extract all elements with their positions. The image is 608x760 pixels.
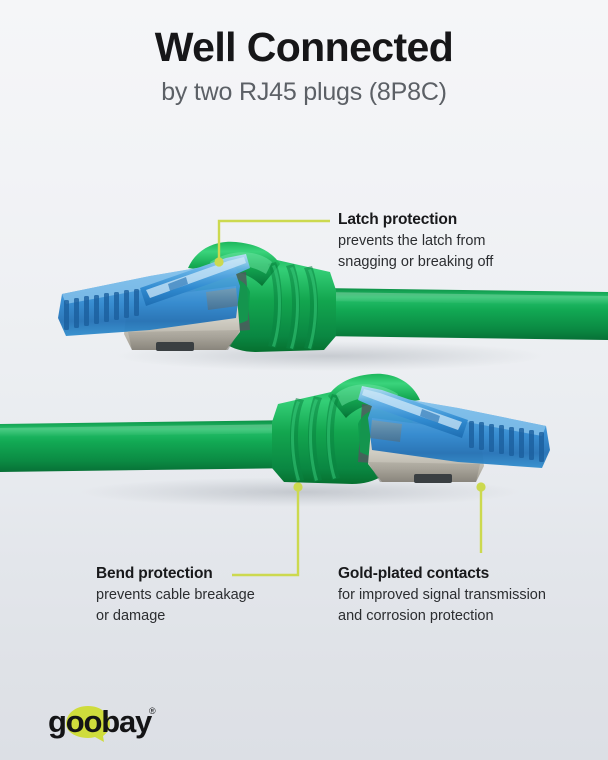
callout-latch-line-2: snagging or breaking off [338,252,493,273]
callout-latch-line-1: prevents the latch from [338,231,493,252]
page-title: Well Connected [0,0,608,69]
callout-bend-line-2: or damage [96,606,255,627]
header: Well Connected by two RJ45 plugs (8P8C) [0,0,608,107]
rj45-connector-top [58,242,608,371]
callout-gold-line-1: for improved signal transmission [338,585,546,606]
callout-bend-protection: Bend protection prevents cable breakage … [96,565,255,626]
callout-gold-heading: Gold-plated contacts [338,565,546,583]
product-photo-rj45-cable [0,0,608,760]
page-subtitle: by two RJ45 plugs (8P8C) [0,69,608,107]
callout-gold-line-2: and corrosion protection [338,606,546,627]
infographic-page: Well Connected by two RJ45 plugs (8P8C) … [0,0,608,760]
rj45-connector-bottom [0,374,550,507]
callout-bend-line-1: prevents cable breakage [96,585,255,606]
callout-latch-protection: Latch protection prevents the latch from… [338,211,493,272]
callout-gold-plated-contacts: Gold-plated contacts for improved signal… [338,565,546,626]
goobay-logo-text: goobay [48,702,151,742]
goobay-logo: goobay ® [48,702,188,742]
callout-latch-heading: Latch protection [338,211,493,229]
callout-bend-heading: Bend protection [96,565,255,583]
goobay-logo-registered-mark: ® [149,706,156,716]
